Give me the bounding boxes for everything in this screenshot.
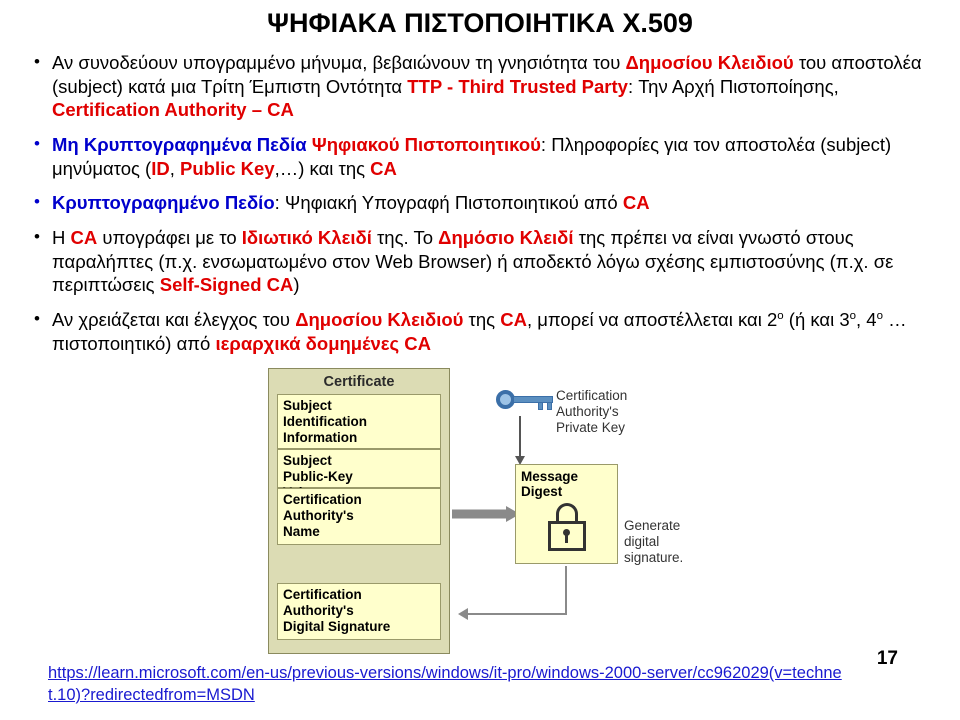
run-text: , μπορεί να αποστέλλεται και 2 xyxy=(527,309,777,330)
run-text: Public Key xyxy=(180,158,275,179)
source-link[interactable]: https://learn.microsoft.com/en-us/previo… xyxy=(48,662,848,707)
run-text: Certification Authority – CA xyxy=(52,99,294,120)
certificate-field-subject-id: Subject Identification Information xyxy=(277,394,441,449)
run-text: Δημόσιο Κλειδί xyxy=(438,227,573,248)
run-text: της xyxy=(463,309,500,330)
key-tooth xyxy=(538,402,543,410)
run-text: Μη Κρυπτογραφημένα Πεδία xyxy=(52,134,312,155)
bullet-marker: • xyxy=(30,133,52,155)
page-number: 17 xyxy=(877,648,898,670)
run-text: , xyxy=(170,158,180,179)
key-tooth xyxy=(547,402,552,410)
run-text: Αν συνοδεύουν υπογραμμένο μήνυμα, βεβαιώ… xyxy=(52,52,625,73)
bullet-text: Μη Κρυπτογραφημένα Πεδία Ψηφιακού Πιστοπ… xyxy=(52,133,936,180)
list-item: • Η CA υπογράφει με το Ιδιωτικό Κλειδί τ… xyxy=(30,226,936,297)
run-text: Δημοσίου Κλειδιού xyxy=(295,309,463,330)
bullet-text: Κρυπτογραφημένο Πεδίο: Ψηφιακή Υπογραφή … xyxy=(52,191,936,215)
slide: ΨΗΦΙΑΚΑ ΠΙΣΤΟΠΟΙΗΤΙΚΑ X.509 • Αν συνοδεύ… xyxy=(0,0,960,720)
page-title: ΨΗΦΙΑΚΑ ΠΙΣΤΟΠΟΙΗΤΙΚΑ X.509 xyxy=(0,0,960,39)
run-text: ,…) και της xyxy=(275,158,371,179)
run-text: TTP - Third Trusted Party xyxy=(407,76,628,97)
run-text: της. Το xyxy=(372,227,438,248)
run-text: CA xyxy=(370,158,397,179)
bullet-text: Αν χρειάζεται και έλεγχος του Δημοσίου Κ… xyxy=(52,308,936,355)
padlock-shackle xyxy=(556,503,578,523)
certificate-title: Certificate xyxy=(269,369,449,390)
run-text: ) xyxy=(293,274,299,295)
certificate-field-ca-digital-signature: Certification Authority's Digital Signat… xyxy=(277,583,441,640)
list-item: • Αν συνοδεύουν υπογραμμένο μήνυμα, βεβα… xyxy=(30,51,936,122)
run-text: Η xyxy=(52,227,71,248)
padlock-icon xyxy=(546,503,588,553)
run-text: Self-Signed CA xyxy=(160,274,294,295)
bullet-marker: • xyxy=(30,51,52,73)
bullet-text: Η CA υπογράφει με το Ιδιωτικό Κλειδί της… xyxy=(52,226,936,297)
certificate-field-ca-name: Certification Authority's Name xyxy=(277,488,441,545)
bullet-marker: • xyxy=(30,226,52,248)
run-text: Αν χρειάζεται και έλεγχος του xyxy=(52,309,295,330)
run-text: Κρυπτογραφημένο Πεδίο xyxy=(52,192,275,213)
list-item: • Κρυπτογραφημένο Πεδίο: Ψηφιακή Υπογραφ… xyxy=(30,191,936,215)
run-text: (ή και 3 xyxy=(784,309,850,330)
run-text: Ιδιωτικό Κλειδί xyxy=(242,227,372,248)
bullet-text: Αν συνοδεύουν υπογραμμένο μήνυμα, βεβαιώ… xyxy=(52,51,936,122)
key-icon xyxy=(496,388,554,412)
run-text: CA xyxy=(623,192,650,213)
message-digest-label: Message Digest xyxy=(521,469,578,499)
bullet-list: • Αν συνοδεύουν υπογραμμένο μήνυμα, βεβα… xyxy=(0,51,960,355)
certificate-diagram: Certificate Subject Identification Infor… xyxy=(268,368,686,656)
padlock-keystem xyxy=(565,534,568,543)
run-text: ιεραρχικά δομημένες CA xyxy=(215,333,431,354)
run-text: CA xyxy=(500,309,527,330)
run-text: ID xyxy=(151,158,170,179)
run-text: : Την Αρχή Πιστοποίησης, xyxy=(628,76,839,97)
generate-signature-label: Generate digital signature. xyxy=(624,518,744,567)
bullet-marker: • xyxy=(30,191,52,213)
certificate-field-public-key: Subject Public-Key Value xyxy=(277,449,441,488)
run-text: : Ψηφιακή Υπογραφή Πιστοποιητικού από xyxy=(275,192,623,213)
list-item: • Αν χρειάζεται και έλεγχος του Δημοσίου… xyxy=(30,308,936,355)
bullet-marker: • xyxy=(30,308,52,330)
run-text: υπογράφει με το xyxy=(97,227,242,248)
run-text: Δημοσίου Κλειδιού xyxy=(625,52,793,73)
run-text: CA xyxy=(71,227,98,248)
list-item: • Μη Κρυπτογραφημένα Πεδία Ψηφιακού Πιστ… xyxy=(30,133,936,180)
ca-private-key-label: Certification Authority's Private Key xyxy=(556,388,686,437)
run-text: Ψηφιακού Πιστοποιητικού xyxy=(312,134,541,155)
run-text: , 4 xyxy=(856,309,877,330)
message-digest-box: Message Digest xyxy=(515,464,618,564)
